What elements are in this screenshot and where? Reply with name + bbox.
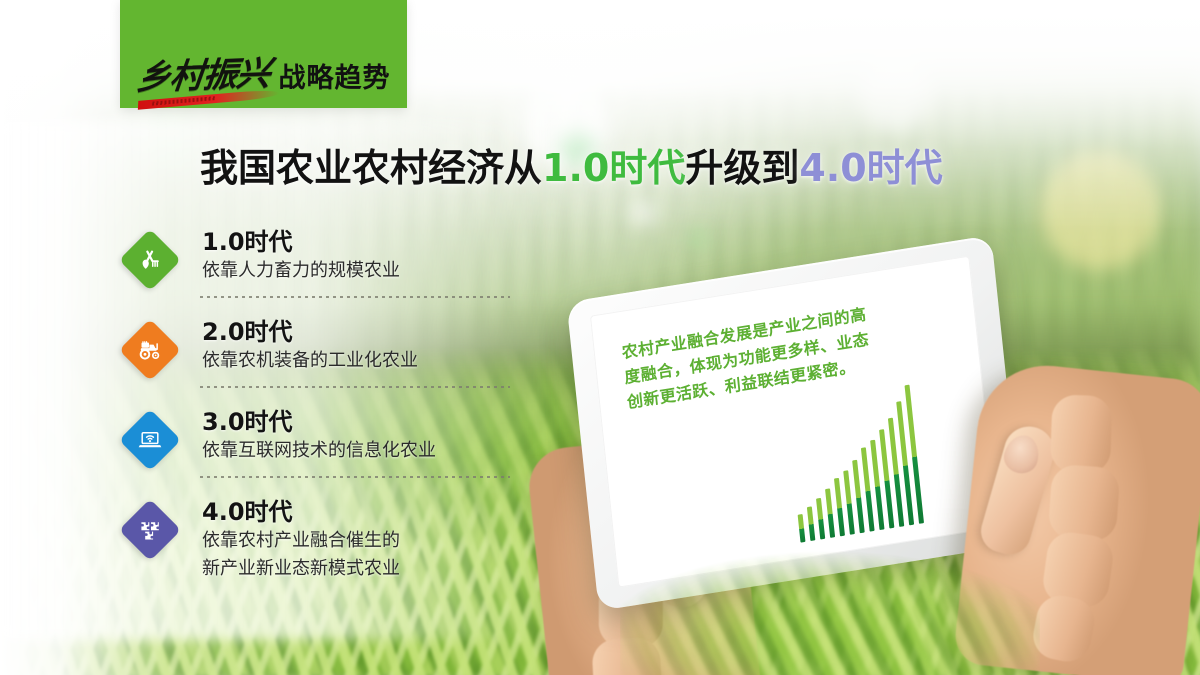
chart-bar (843, 470, 855, 535)
list-divider (200, 476, 510, 478)
list-item-desc: 依靠互联网技术的信息化农业 (202, 438, 540, 464)
chart-bar (834, 478, 845, 536)
list-item-title: 3.0时代 (202, 408, 540, 436)
list-item[interactable]: 1.0时代 依靠人力畜力的规模农业 (120, 232, 540, 322)
list-item-title: 2.0时代 (202, 318, 540, 346)
list-item[interactable]: 4.0时代 依靠农村产业融合催生的 新产业新业态新模式农业 (120, 502, 540, 612)
shovel-rake-icon (119, 229, 181, 291)
title-highlight-1: 1.0时代 (542, 146, 685, 190)
banner-subtitle: 战略趋势 (279, 65, 391, 94)
era-list: 1.0时代 依靠人力畜力的规模农业 (120, 232, 540, 612)
title-highlight-2: 4.0时代 (799, 146, 942, 190)
list-item-desc-2: 新产业新业态新模式农业 (202, 556, 540, 582)
list-item-title: 1.0时代 (202, 228, 540, 256)
brand-logo: 乡村振兴 (134, 58, 270, 97)
puzzle-pieces-icon (119, 499, 181, 561)
title-part-2: 升级到 (685, 146, 799, 190)
list-item-desc: 依靠农机装备的工业化农业 (202, 348, 540, 374)
right-finger (1048, 464, 1121, 543)
slide-canvas: 乡村振兴 战略趋势 我国农业农村经济从1.0时代升级到4.0时代 (0, 0, 1200, 675)
list-item[interactable]: 2.0时代 依靠农机装备的工业化农业 (120, 322, 540, 412)
list-item[interactable]: 3.0时代 依靠互联网技术的信息化农业 (120, 412, 540, 502)
tractor-icon (119, 319, 181, 381)
list-item-desc: 依靠人力畜力的规模农业 (202, 258, 540, 284)
page-title: 我国农业农村经济从1.0时代升级到4.0时代 (200, 148, 943, 190)
right-finger (1050, 394, 1113, 474)
list-divider (200, 296, 510, 298)
tablet-scene: 农村产业融合发展是产业之间的高 度融合，体现为功能更多样、业态 创新更活跃、利益… (560, 250, 1200, 675)
list-divider (200, 386, 510, 388)
list-item-title: 4.0时代 (202, 498, 540, 526)
title-part-1: 我国农业农村经济从 (200, 146, 542, 190)
foreground-plants (620, 531, 1040, 675)
growth-bar-chart (785, 365, 978, 543)
list-item-desc: 依靠农村产业融合催生的 (202, 528, 540, 554)
header-banner: 乡村振兴 战略趋势 (120, 0, 407, 108)
laptop-wifi-icon (119, 409, 181, 471)
